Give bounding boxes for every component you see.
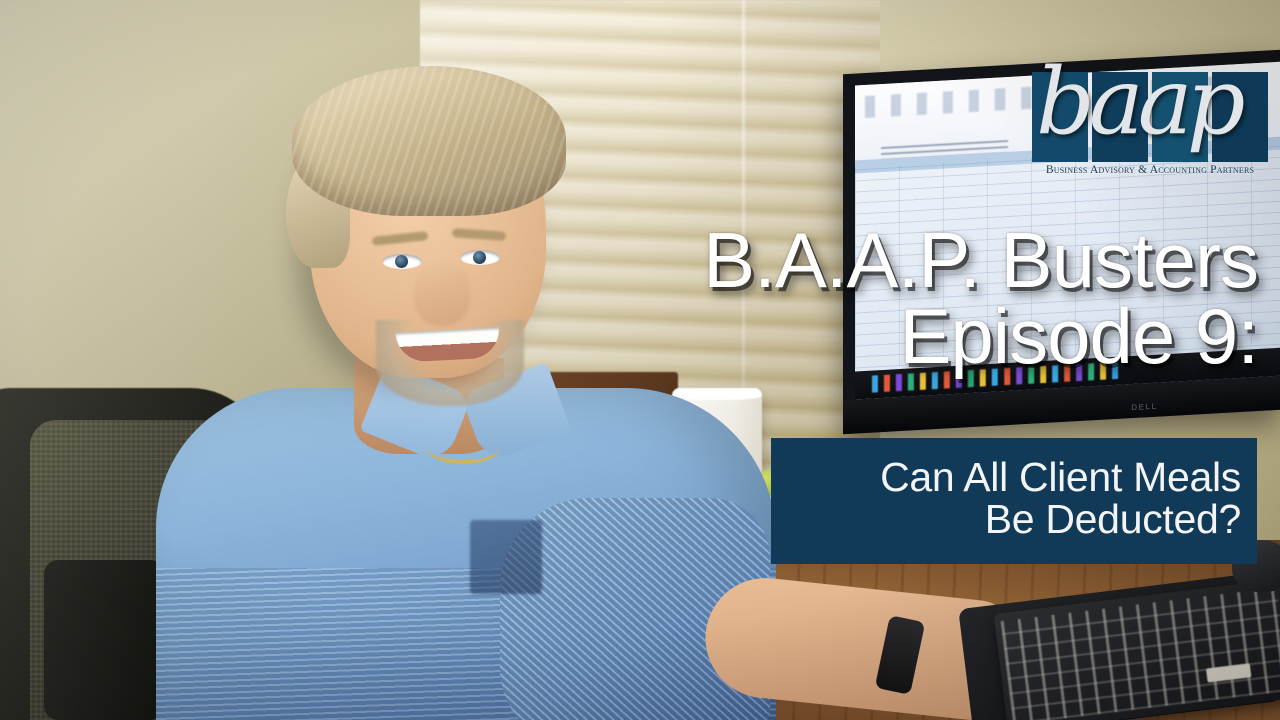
person-subject xyxy=(140,58,780,720)
gold-chain xyxy=(426,430,500,464)
subtitle-line-1: Can All Client Meals xyxy=(880,457,1241,499)
eye-right xyxy=(460,250,500,265)
episode-title: B.A.A.P. Busters Episode 9: xyxy=(498,222,1258,375)
logo-tagline: Business Advisory & Accounting Partners xyxy=(1032,164,1268,176)
subtitle-line-2: Be Deducted? xyxy=(880,499,1241,541)
nose xyxy=(414,264,470,326)
baap-logo: baap Business Advisory & Accounting Part… xyxy=(1032,72,1268,192)
thumbnail-canvas: DELL xyxy=(0,0,1280,720)
subtitle-banner: Can All Client Meals Be Deducted? xyxy=(771,438,1257,564)
title-line-1: B.A.A.P. Busters xyxy=(498,222,1258,298)
eye-left xyxy=(382,254,422,269)
subtitle-text: Can All Client Meals Be Deducted? xyxy=(880,457,1257,545)
pupil-right xyxy=(473,251,486,264)
hair xyxy=(292,66,566,216)
pupil-left xyxy=(395,255,408,268)
title-line-2: Episode 9: xyxy=(498,298,1258,374)
dell-logo: DELL xyxy=(1131,402,1157,412)
logo-wordmark: baap xyxy=(1036,56,1266,148)
keyboard-keys xyxy=(1001,587,1280,720)
shirt-logo-patch xyxy=(470,520,542,594)
